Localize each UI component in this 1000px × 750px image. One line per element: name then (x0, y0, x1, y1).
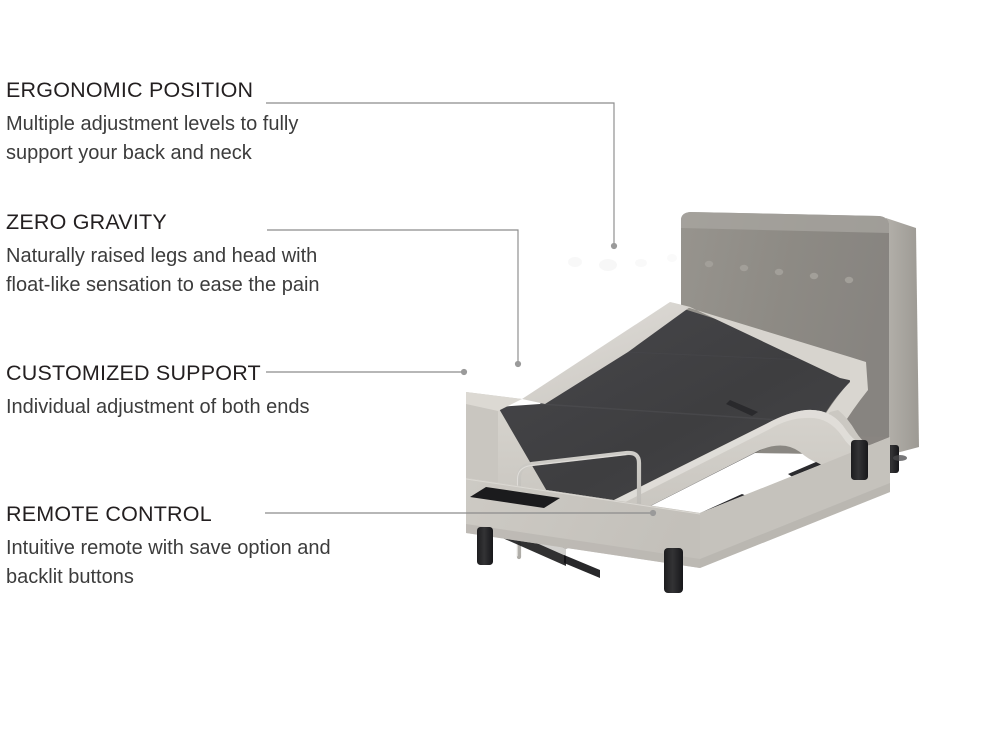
feature-description-zero-gravity: Naturally raised legs and head with floa… (6, 242, 346, 299)
feature-description-ergonomic-position: Multiple adjustment levels to fully supp… (6, 110, 366, 167)
feature-customized-support: CUSTOMIZED SUPPORT Individual adjustment… (6, 361, 310, 422)
feature-description-customized-support: Individual adjustment of both ends (6, 393, 310, 422)
feature-title-zero-gravity: ZERO GRAVITY (6, 210, 346, 234)
feature-ergonomic-position: ERGONOMIC POSITION Multiple adjustment l… (6, 78, 366, 167)
feature-title-ergonomic-position: ERGONOMIC POSITION (6, 78, 366, 102)
leader-dot-customized-support (461, 369, 467, 375)
leader-dot-remote-control (650, 510, 656, 516)
feature-remote-control: REMOTE CONTROL Intuitive remote with sav… (6, 502, 346, 591)
leader-dot-ergonomic-position (611, 243, 617, 249)
feature-title-remote-control: REMOTE CONTROL (6, 502, 346, 526)
leader-dot-zero-gravity (515, 361, 521, 367)
feature-description-remote-control: Intuitive remote with save option and ba… (6, 534, 346, 591)
feature-zero-gravity: ZERO GRAVITY Naturally raised legs and h… (6, 210, 346, 299)
infographic-canvas: ERGONOMIC POSITION Multiple adjustment l… (0, 0, 1000, 750)
feature-title-customized-support: CUSTOMIZED SUPPORT (6, 361, 310, 385)
